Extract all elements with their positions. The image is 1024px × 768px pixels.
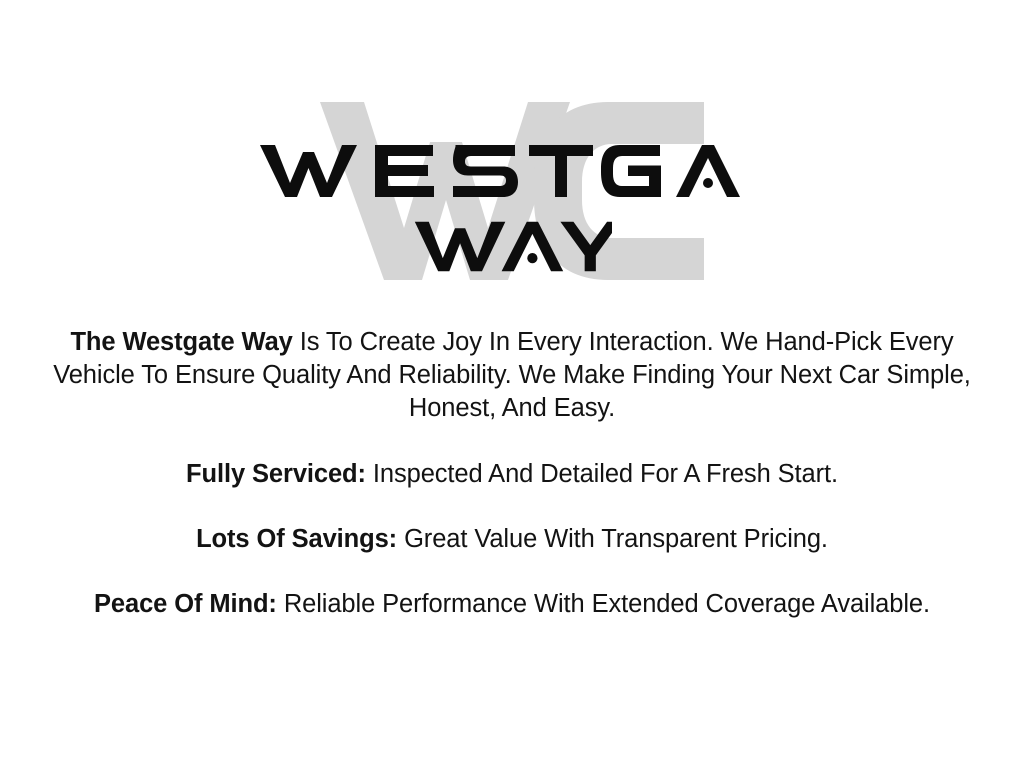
wordmark-line-way [0, 218, 1024, 274]
spacer [29, 491, 995, 523]
spacer [29, 425, 995, 458]
benefit-term: Fully Serviced: [186, 460, 366, 488]
benefit-description: Inspected And Detailed For A Fresh Start… [366, 460, 838, 488]
brand-wordmark [0, 96, 1024, 274]
benefit-lots-of-savings: Lots Of Savings: Great Value With Transp… [29, 523, 995, 556]
benefit-description: Reliable Performance With Extended Cover… [277, 590, 930, 618]
benefit-peace-of-mind: Peace Of Mind: Reliable Performance With… [29, 588, 995, 621]
wordmark-line-westgate [0, 140, 1024, 200]
intro-paragraph: The Westgate Way Is To Create Joy In Eve… [29, 326, 995, 425]
benefit-term: Peace Of Mind: [94, 590, 277, 618]
benefit-term: Lots Of Savings: [196, 525, 397, 553]
benefit-description: Great Value With Transparent Pricing. [397, 525, 828, 553]
benefit-fully-serviced: Fully Serviced: Inspected And Detailed F… [29, 458, 995, 491]
spacer [29, 556, 995, 588]
value-proposition-copy: The Westgate Way Is To Create Joy In Eve… [29, 326, 995, 621]
intro-lead-in: The Westgate Way [70, 328, 292, 356]
brand-logo-lockup [0, 96, 1024, 296]
slide-canvas: The Westgate Way Is To Create Joy In Eve… [0, 0, 1024, 768]
